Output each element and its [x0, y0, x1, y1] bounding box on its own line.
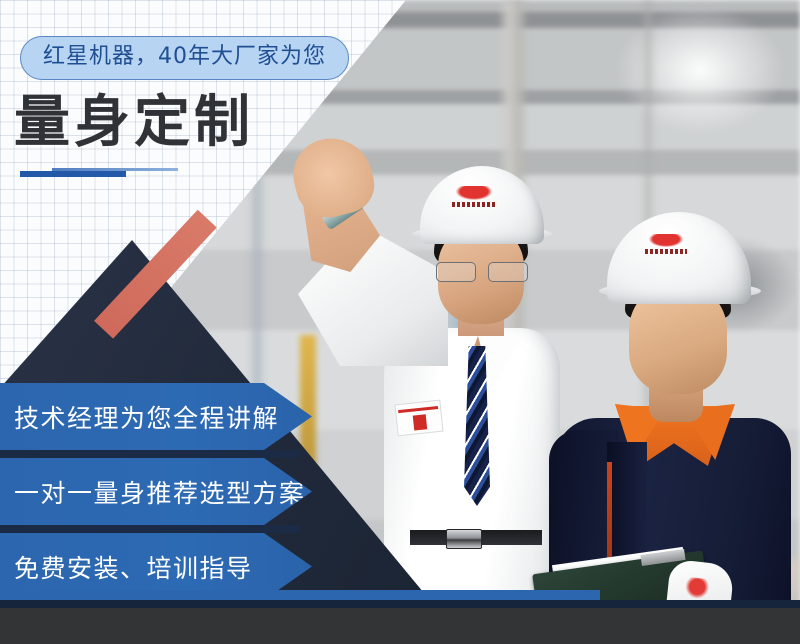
feature-bar-divider-1 [0, 450, 300, 458]
title-underline-thick [20, 171, 126, 177]
feature-bar-1: 技术经理为您全程讲解 [0, 383, 312, 450]
id-badge [394, 400, 443, 437]
helmet-brand-text [645, 249, 687, 254]
worker-figure [545, 190, 800, 644]
helmet-brand-text [452, 202, 496, 207]
engineer-belt-buckle [446, 529, 482, 549]
bottom-navy-rule [0, 600, 800, 608]
helmet-red-star-logo [456, 186, 492, 200]
helmet-red-star-logo [649, 234, 683, 247]
white-hard-hat [607, 212, 751, 304]
eyeglasses-icon [434, 262, 530, 280]
promo-banner: 红星机器，40年大厂家为您 量身定制 技术经理为您全程讲解 一对一量身推荐选型方… [0, 0, 800, 644]
feature-bar-2: 一对一量身推荐选型方案 [0, 458, 312, 525]
striped-tie [464, 346, 490, 506]
tagline-badge: 红星机器，40年大厂家为您 [20, 36, 349, 80]
page-title: 量身定制 [14, 95, 254, 151]
bottom-dark-band [0, 608, 800, 644]
feature-bar-divider-2 [0, 525, 300, 533]
glove-red-logo [684, 577, 710, 601]
